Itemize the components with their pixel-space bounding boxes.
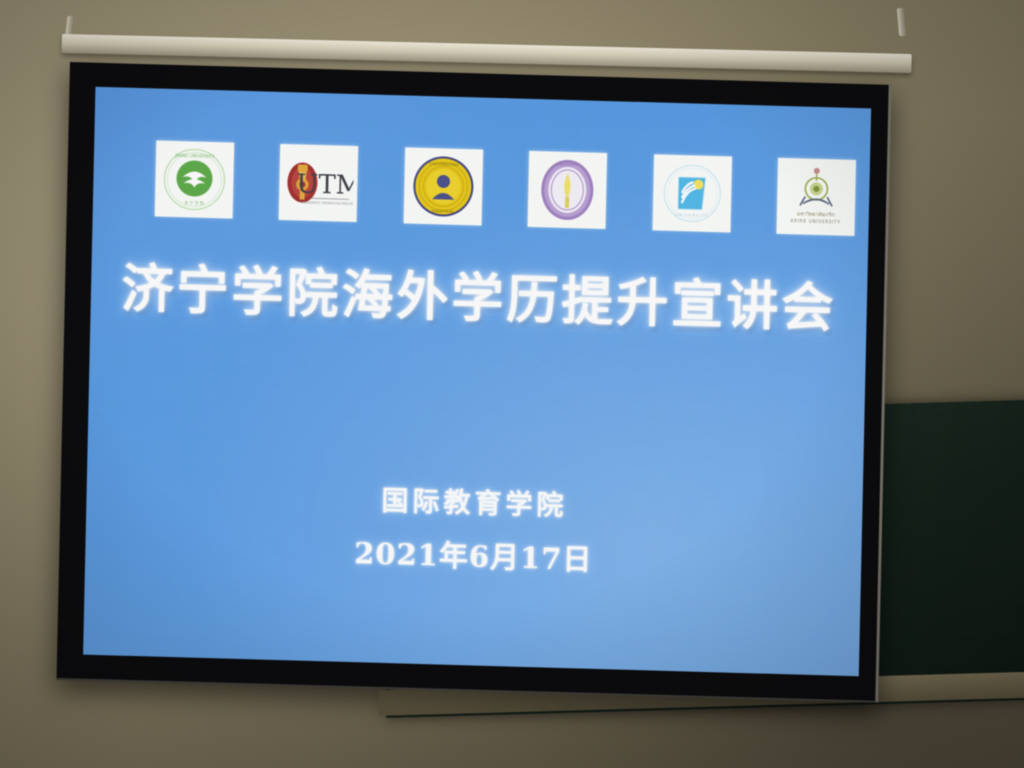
projection-screen: JINING UNIVERSITY 济 宁 学 院 UTM <box>57 62 892 703</box>
svg-text:济 宁 学 院: 济 宁 学 院 <box>184 199 204 206</box>
svg-text:NASIONAL: NASIONAL <box>431 208 454 214</box>
classroom-photo: JINING UNIVERSITY 济 宁 学 院 UTM <box>0 0 1024 768</box>
svg-text:UTM: UTM <box>297 169 355 201</box>
svg-text:KRIRK UNIVERSITY: KRIRK UNIVERSITY <box>791 218 841 224</box>
slide-date: 2021年6月17日 <box>85 524 862 590</box>
gold-seal-university-logo: UNIVERSITAS NASIONAL <box>403 147 483 225</box>
jining-university-logo: JINING UNIVERSITY 济 宁 学 院 <box>155 140 235 218</box>
svg-text:JINING UNIVERSITY: JINING UNIVERSITY <box>174 153 215 159</box>
projected-slide: JINING UNIVERSITY 济 宁 学 院 UTM <box>83 87 871 677</box>
svg-text:UNIVERSITY: UNIVERSITY <box>675 213 708 218</box>
svg-text:UNIVERSITAS: UNIVERSITAS <box>429 161 459 167</box>
blue-book-university-logo: UNIVERSITY <box>652 154 732 232</box>
svg-text:UNIVERSITI TEKNOLOGI MALAYSIA: UNIVERSITI TEKNOLOGI MALAYSIA <box>301 201 354 207</box>
slide-subtitle-block: 国际教育学院 2021年6月17日 <box>85 473 863 590</box>
slide-title: 济宁学院海外学历提升宣讲会 <box>90 263 867 337</box>
svg-text:มหาวิทยาลัยเกริก: มหาวิทยาลัยเกริก <box>797 210 835 218</box>
slide-organization: 国际教育学院 <box>86 473 863 536</box>
krirk-university-logo: มหาวิทยาลัยเกริก KRIRK UNIVERSITY <box>776 158 856 236</box>
partner-logo-row: JINING UNIVERSITY 济 宁 学 院 UTM <box>155 140 856 236</box>
svg-text:UNIVERSITY: UNIVERSITY <box>558 163 579 168</box>
utm-logo: UTM UNIVERSITI TEKNOLOGI MALAYSIA <box>279 144 359 222</box>
purple-gear-university-logo: UNIVERSITY <box>528 151 608 229</box>
